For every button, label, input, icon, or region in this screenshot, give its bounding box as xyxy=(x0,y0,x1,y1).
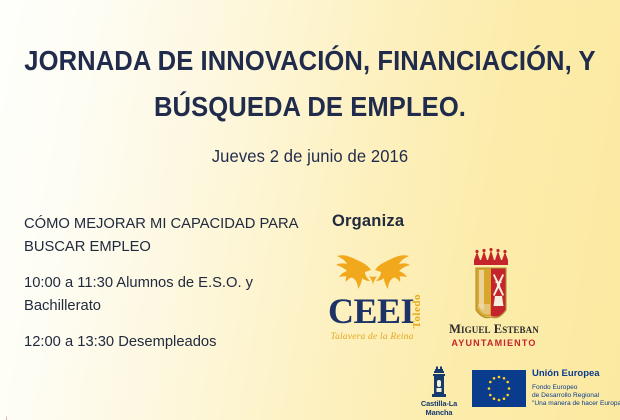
organiza-label: Organiza xyxy=(332,212,404,231)
miguel-esteban-logo: Miguel Esteban AYUNTAMIENTO xyxy=(433,248,555,354)
page-title-line-1: JORNADA DE INNOVACIÓN, FINANCIACIÓN, Y xyxy=(22,38,599,84)
eu-flag-icon xyxy=(472,370,526,407)
ceei-logo: CEEI Toledo Talavera de la Reina xyxy=(325,246,430,352)
program-heading-line-1: CÓMO MEJORAR MI CAPACIDAD PARA xyxy=(24,212,315,235)
eu-line-1: Fondo Europeo xyxy=(532,384,620,392)
decorative-arc xyxy=(0,390,56,420)
ceei-wordmark: CEEI xyxy=(325,292,417,330)
eu-line-2: de Desarrollo Regional xyxy=(532,392,620,400)
castilla-la-mancha-label: Castilla-La Mancha xyxy=(408,399,470,417)
eu-line-3: "Una manera de hacer Europa" xyxy=(532,400,620,408)
title-block: JORNADA DE INNOVACIÓN, FINANCIACIÓN, Y B… xyxy=(0,38,620,130)
ceei-subtitle: Talavera de la Reina xyxy=(325,332,419,342)
ceei-crest-icon xyxy=(331,246,415,294)
miguel-esteban-subtitle: AYUNTAMIENTO xyxy=(433,338,555,348)
event-date: Jueves 2 de junio de 2016 xyxy=(16,146,605,167)
funding-logos: Castilla-La Mancha Unión Europea xyxy=(408,366,620,418)
ceei-region-label: Toledo xyxy=(411,294,423,328)
castle-icon xyxy=(426,366,452,398)
page-title-line-2: BÚSQUEDA DE EMPLEO. xyxy=(22,84,599,130)
program-heading-line-2: BUSCAR EMPLEO xyxy=(24,235,315,258)
organizer-logos: CEEI Toledo Talavera de la Reina xyxy=(325,246,555,356)
session-1-line-2: Bachillerato xyxy=(24,294,315,317)
eu-title: Unión Europea xyxy=(532,368,620,380)
eu-subtitle-lines: Fondo Europeo de Desarrollo Regional "Un… xyxy=(532,384,620,409)
program-block: CÓMO MEJORAR MI CAPACIDAD PARA BUSCAR EM… xyxy=(24,212,324,366)
eu-funding-text: Unión Europea Fondo Europeo de Desarroll… xyxy=(532,368,620,409)
miguel-esteban-crest-icon xyxy=(460,248,522,326)
castilla-la-mancha-logo: Castilla-La Mancha xyxy=(408,366,470,416)
session-2: 12:00 a 13:30 Desempleados xyxy=(24,330,315,353)
session-1-line-1: 10:00 a 11:30 Alumnos de E.S.O. y xyxy=(24,271,315,294)
miguel-esteban-name: Miguel Esteban xyxy=(433,322,555,337)
poster-canvas: JORNADA DE INNOVACIÓN, FINANCIACIÓN, Y B… xyxy=(0,0,620,420)
